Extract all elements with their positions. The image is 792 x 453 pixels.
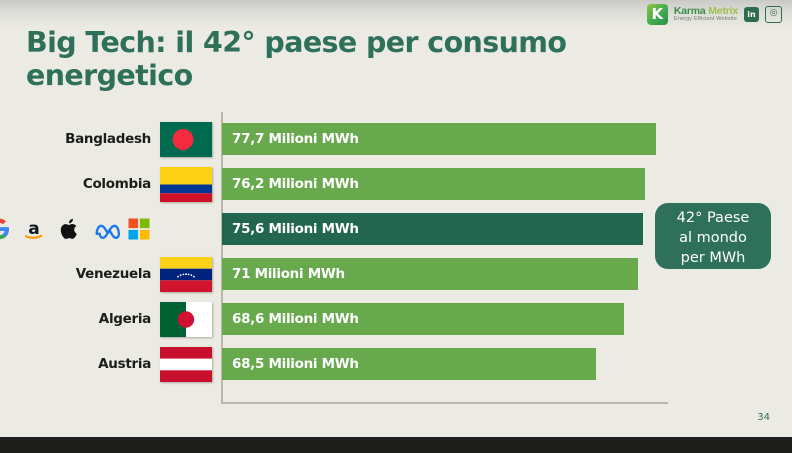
country-label-algeria: Algeria <box>0 311 160 327</box>
slide-root: K Karma Metrix Energy Efficient Website … <box>0 0 792 453</box>
meta-logo-icon <box>92 217 116 241</box>
karma-metrix-logo-mark: K <box>647 4 668 25</box>
brand-header: K Karma Metrix Energy Efficient Website … <box>647 4 782 25</box>
bar-value-bigtech: 75,6 Milioni MWh <box>222 221 359 237</box>
bar-wrap-bangladesh: 77,7 Milioni MWh <box>222 120 792 158</box>
flag-venezuela-icon <box>160 257 212 292</box>
bar-bangladesh: 77,7 Milioni MWh <box>222 123 656 155</box>
bar-value-bangladesh: 77,7 Milioni MWh <box>222 131 359 147</box>
country-label-venezuela: Venezuela <box>0 266 160 282</box>
bar-venezuela: 71 Milioni MWh <box>222 258 638 290</box>
bar-algeria: 68,6 Milioni MWh <box>222 303 624 335</box>
google-logo-icon <box>0 217 11 241</box>
bar-value-venezuela: 71 Milioni MWh <box>222 266 345 282</box>
microsoft-logo-icon <box>127 217 151 241</box>
callout-line-3: per MWh <box>655 248 771 268</box>
flag-colombia-icon <box>160 167 212 202</box>
bar-value-austria: 68,5 Milioni MWh <box>222 356 359 372</box>
bottom-bar <box>0 437 792 453</box>
instagram-icon[interactable]: ◎ <box>765 6 782 23</box>
page-number: 34 <box>757 412 770 423</box>
country-label-colombia: Colombia <box>0 176 160 192</box>
country-label-bangladesh: Bangladesh <box>0 131 160 147</box>
bar-wrap-algeria: 68,6 Milioni MWh <box>222 300 792 338</box>
table-row: Colombia 76,2 Milioni MWh <box>0 165 792 203</box>
amazon-logo-icon: a <box>22 217 46 241</box>
big-tech-logo-strip: a <box>0 217 160 241</box>
bar-bigtech: 75,6 Milioni MWh <box>222 213 643 245</box>
callout-box: 42° Paese al mondo per MWh <box>655 203 771 269</box>
brand-text-block: Karma Metrix Energy Efficient Website <box>674 6 738 23</box>
flag-bangladesh-icon <box>160 122 212 157</box>
table-row: Austria 68,5 Milioni MWh <box>0 345 792 383</box>
bar-value-colombia: 76,2 Milioni MWh <box>222 176 359 192</box>
callout-line-2: al mondo <box>655 228 771 248</box>
chart-baseline <box>221 402 668 404</box>
table-row: Bangladesh 77,7 Milioni MWh <box>0 120 792 158</box>
linkedin-icon[interactable]: in <box>744 7 759 22</box>
page-title: Big Tech: il 42° paese per consumo energ… <box>26 26 726 92</box>
flag-austria-icon <box>160 347 212 382</box>
flag-algeria-icon <box>160 302 212 337</box>
bar-wrap-austria: 68,5 Milioni MWh <box>222 345 792 383</box>
bar-value-algeria: 68,6 Milioni MWh <box>222 311 359 327</box>
bar-colombia: 76,2 Milioni MWh <box>222 168 645 200</box>
bar-wrap-colombia: 76,2 Milioni MWh <box>222 165 792 203</box>
bar-austria: 68,5 Milioni MWh <box>222 348 596 380</box>
apple-logo-icon <box>57 217 81 241</box>
table-row: Algeria 68,6 Milioni MWh <box>0 300 792 338</box>
country-label-austria: Austria <box>0 356 160 372</box>
brand-tagline: Energy Efficient Website <box>674 17 738 23</box>
callout-line-1: 42° Paese <box>655 208 771 228</box>
